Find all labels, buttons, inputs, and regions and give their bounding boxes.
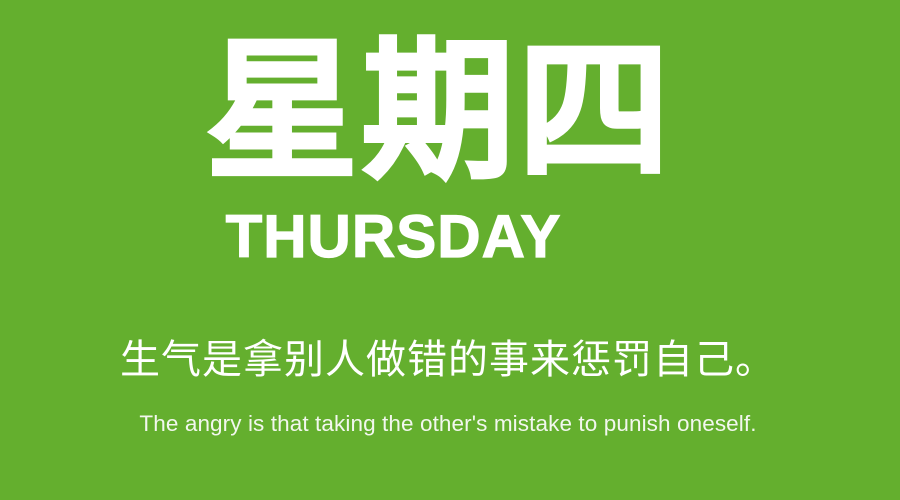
daily-quote-card: 星期四 THURSDAY 生气是拿别人做错的事来惩罚自己。 The angry … [0,0,900,500]
quote-block: 生气是拿别人做错的事来惩罚自己。 The angry is that takin… [0,336,896,437]
quote-text-cjk: 生气是拿别人做错的事来惩罚自己。 [0,336,896,386]
quote-text-latin: The angry is that taking the other's mis… [0,410,896,437]
weekday-title-cjk: 星期四 [0,34,880,189]
weekday-title-latin: THURSDAY [0,207,880,267]
weekday-hero: 星期四 THURSDAY [0,0,880,267]
